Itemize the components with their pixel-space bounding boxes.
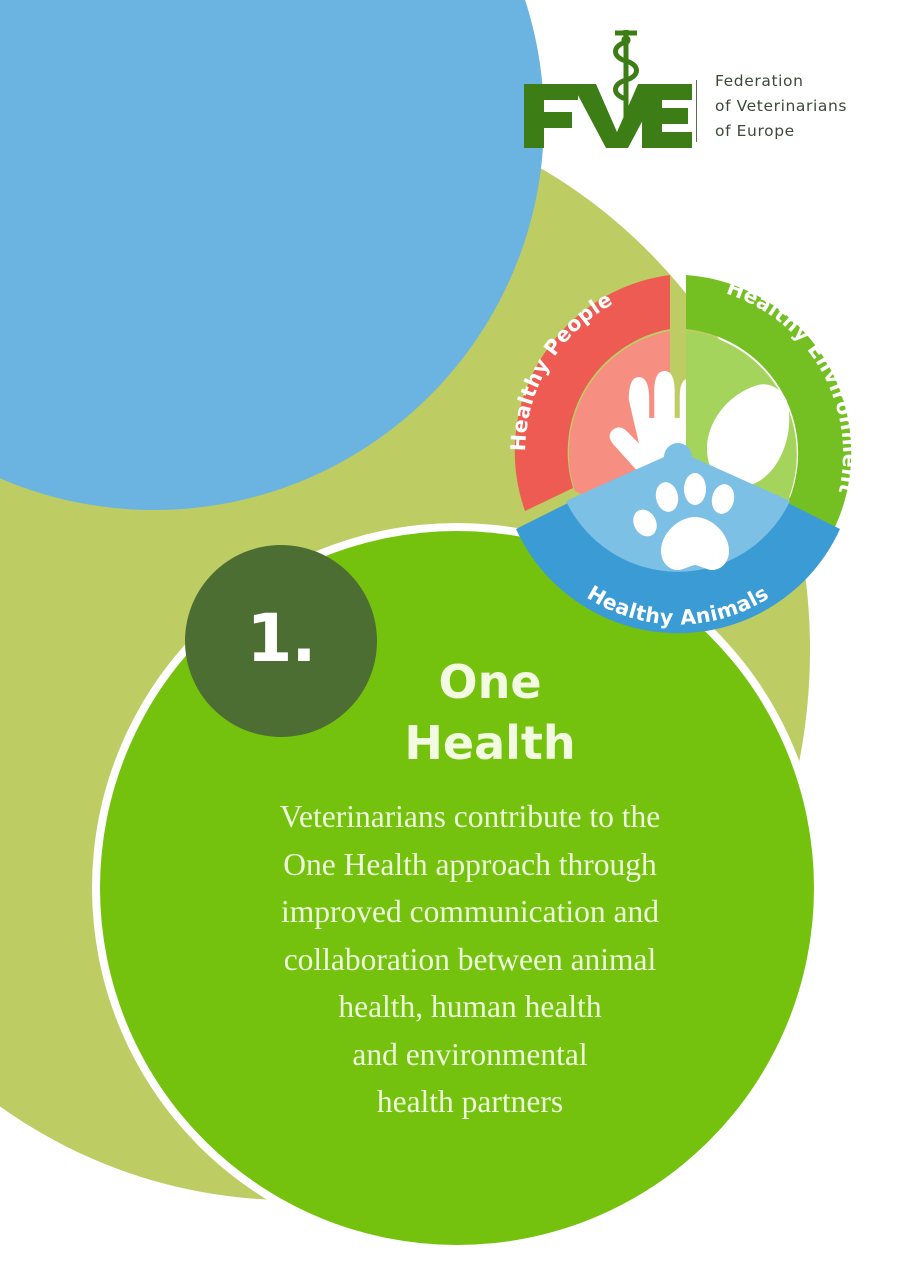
fve-logo-mark (520, 24, 696, 152)
fve-logo: Federation of Veterinarians of Europe (520, 24, 890, 152)
fve-wordmark (524, 84, 692, 148)
logo-organisation-name: Federation of Veterinarians of Europe (715, 69, 847, 152)
logo-divider (696, 80, 697, 142)
section-heading: One Health (330, 652, 650, 774)
section-body-text: Veterinarians contribute to the One Heal… (180, 793, 760, 1126)
section-number-label: 1. (247, 606, 316, 676)
one-health-diagram: Healthy People Healthy Environment (478, 253, 878, 653)
poster-canvas: Veterinarians commit to Sustainable Food… (0, 0, 900, 1280)
